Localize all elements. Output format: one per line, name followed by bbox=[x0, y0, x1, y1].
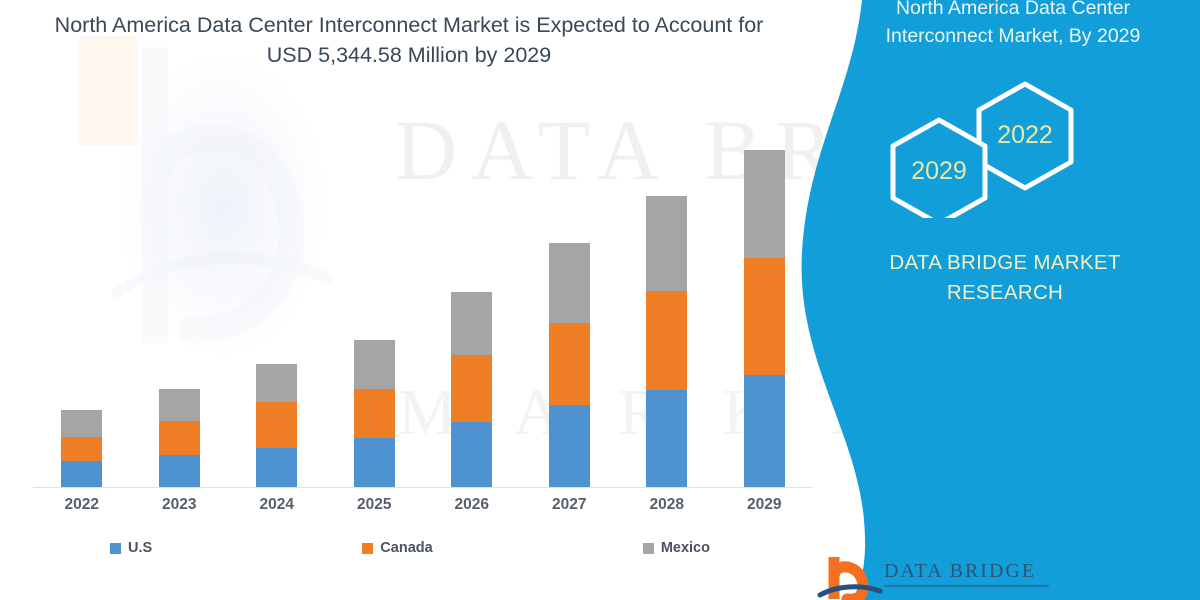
bar-stack[interactable] bbox=[354, 340, 395, 487]
bar-segment-mexico[interactable] bbox=[451, 292, 492, 355]
bar-stack[interactable] bbox=[744, 150, 785, 487]
x-axis-tick-label: 2026 bbox=[423, 496, 521, 514]
x-axis-tick-label: 2023 bbox=[131, 496, 229, 514]
bar-segment-us[interactable] bbox=[549, 405, 590, 487]
bar-stack[interactable] bbox=[256, 364, 297, 487]
x-axis-tick-label: 2029 bbox=[716, 496, 814, 514]
bar-segment-us[interactable] bbox=[451, 422, 492, 487]
x-axis-tick-label: 2022 bbox=[33, 496, 131, 514]
bar-slot bbox=[228, 120, 326, 487]
bar-segment-canada[interactable] bbox=[451, 355, 492, 422]
x-axis-tick-label: 2025 bbox=[326, 496, 424, 514]
bar-segment-canada[interactable] bbox=[549, 323, 590, 405]
bar-slot bbox=[618, 120, 716, 487]
x-axis-line bbox=[33, 487, 813, 488]
bar-stack[interactable] bbox=[646, 196, 687, 487]
bar-segment-mexico[interactable] bbox=[549, 243, 590, 323]
chart-panel: DATA BRIDGE M A R K E T North America Da… bbox=[0, 0, 880, 600]
bar-segment-us[interactable] bbox=[646, 390, 687, 487]
company-logo-text: DATA BRIDGE bbox=[884, 560, 1036, 583]
bar-slot bbox=[423, 120, 521, 487]
bar-slot bbox=[716, 120, 814, 487]
legend-item-mexico[interactable]: Mexico bbox=[643, 540, 710, 556]
legend-swatch-icon bbox=[643, 543, 654, 554]
bar-segment-mexico[interactable] bbox=[744, 150, 785, 258]
bar-segment-mexico[interactable] bbox=[159, 389, 200, 421]
legend-label: Mexico bbox=[661, 540, 710, 556]
bar-stack[interactable] bbox=[549, 243, 590, 487]
legend-item-canada[interactable]: Canada bbox=[362, 540, 432, 556]
company-logo[interactable]: DATA BRIDGE bbox=[814, 555, 1144, 600]
bar-segment-canada[interactable] bbox=[354, 389, 395, 438]
bar-slot bbox=[131, 120, 229, 487]
legend-label: Canada bbox=[380, 540, 432, 556]
chart-legend: U.SCanadaMexico bbox=[110, 540, 710, 556]
brand-name: DATA BRIDGE MARKET RESEARCH bbox=[845, 248, 1165, 308]
bar-segment-canada[interactable] bbox=[646, 291, 687, 390]
bar-segment-mexico[interactable] bbox=[256, 364, 297, 402]
headline-line-1: North America Data Center Interconnect M… bbox=[14, 10, 804, 40]
bar-slot bbox=[33, 120, 131, 487]
headline-line-2: USD 5,344.58 Million by 2029 bbox=[14, 40, 804, 70]
legend-swatch-icon bbox=[110, 543, 121, 554]
page-title: North America Data Center Interconnect M… bbox=[14, 10, 804, 70]
legend-swatch-icon bbox=[362, 543, 373, 554]
bar-slot bbox=[521, 120, 619, 487]
bar-segment-mexico[interactable] bbox=[61, 410, 102, 437]
hexagon-2029-label: 2029 bbox=[911, 157, 967, 185]
bar-segment-canada[interactable] bbox=[159, 421, 200, 455]
brand-title-line-2: Interconnect Market, By 2029 bbox=[848, 22, 1178, 50]
x-axis-labels: 20222023202420252026202720282029 bbox=[33, 496, 813, 514]
legend-label: U.S bbox=[128, 540, 152, 556]
brand-name-line-2: RESEARCH bbox=[845, 278, 1165, 308]
hexagon-badges: 2022 2029 bbox=[855, 78, 1155, 218]
bar-stack[interactable] bbox=[159, 389, 200, 487]
x-axis-tick-label: 2028 bbox=[618, 496, 716, 514]
bar-segment-canada[interactable] bbox=[256, 402, 297, 448]
bar-segment-mexico[interactable] bbox=[354, 340, 395, 389]
bar-group bbox=[33, 120, 813, 487]
bar-segment-mexico[interactable] bbox=[646, 196, 687, 291]
x-axis-tick-label: 2024 bbox=[228, 496, 326, 514]
bar-segment-us[interactable] bbox=[744, 375, 785, 487]
brand-title-line-1: North America Data Center bbox=[848, 0, 1178, 22]
bar-segment-canada[interactable] bbox=[61, 437, 102, 461]
x-axis-tick-label: 2027 bbox=[521, 496, 619, 514]
bar-segment-us[interactable] bbox=[256, 448, 297, 487]
brand-panel-content: North America Data Center Interconnect M… bbox=[800, 0, 1200, 600]
bar-segment-canada[interactable] bbox=[744, 258, 785, 375]
chart-plot-area bbox=[33, 120, 813, 488]
bar-segment-us[interactable] bbox=[61, 461, 102, 487]
hexagon-2022-label: 2022 bbox=[997, 121, 1053, 149]
bar-slot bbox=[326, 120, 424, 487]
infographic-canvas: DATA BRIDGE M A R K E T North America Da… bbox=[0, 0, 1200, 600]
bar-stack[interactable] bbox=[451, 292, 492, 487]
brand-name-line-1: DATA BRIDGE MARKET bbox=[845, 248, 1165, 278]
brand-chart-title: North America Data Center Interconnect M… bbox=[848, 0, 1178, 50]
legend-item-us[interactable]: U.S bbox=[110, 540, 152, 556]
bar-stack[interactable] bbox=[61, 410, 102, 487]
bar-segment-us[interactable] bbox=[354, 438, 395, 487]
bar-segment-us[interactable] bbox=[159, 455, 200, 487]
